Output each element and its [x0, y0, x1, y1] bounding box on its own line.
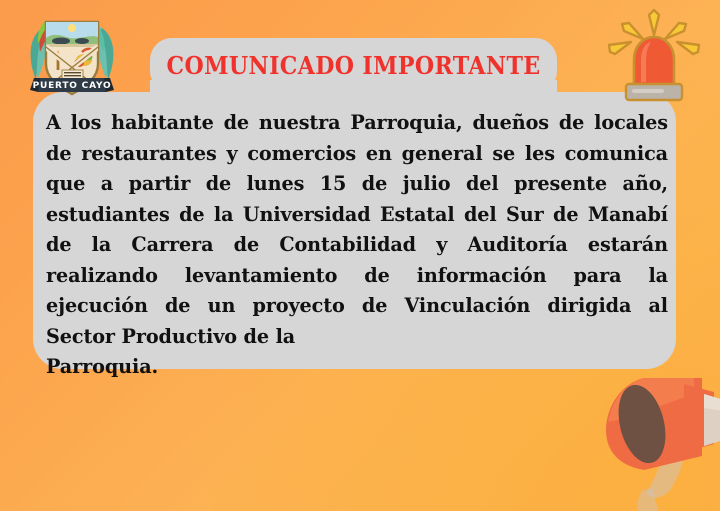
announcement-body: A los habitante de nuestra Parroquia, du… [46, 108, 668, 383]
page-title: COMUNICADO IMPORTANTE [166, 48, 540, 84]
siren-beacon-icon [596, 4, 712, 108]
emblem-banner-text: PUERTO CAYO [33, 81, 112, 91]
announcement-body-main: A los habitante de nuestra Parroquia, du… [46, 111, 668, 348]
coat-of-arms-icon: PUERTO CAYO [18, 8, 126, 104]
announcement-poster: PUERTO CAYO [0, 0, 720, 511]
announcement-body-lastline: Parroquia. [46, 352, 668, 383]
megaphone-icon [598, 378, 720, 511]
